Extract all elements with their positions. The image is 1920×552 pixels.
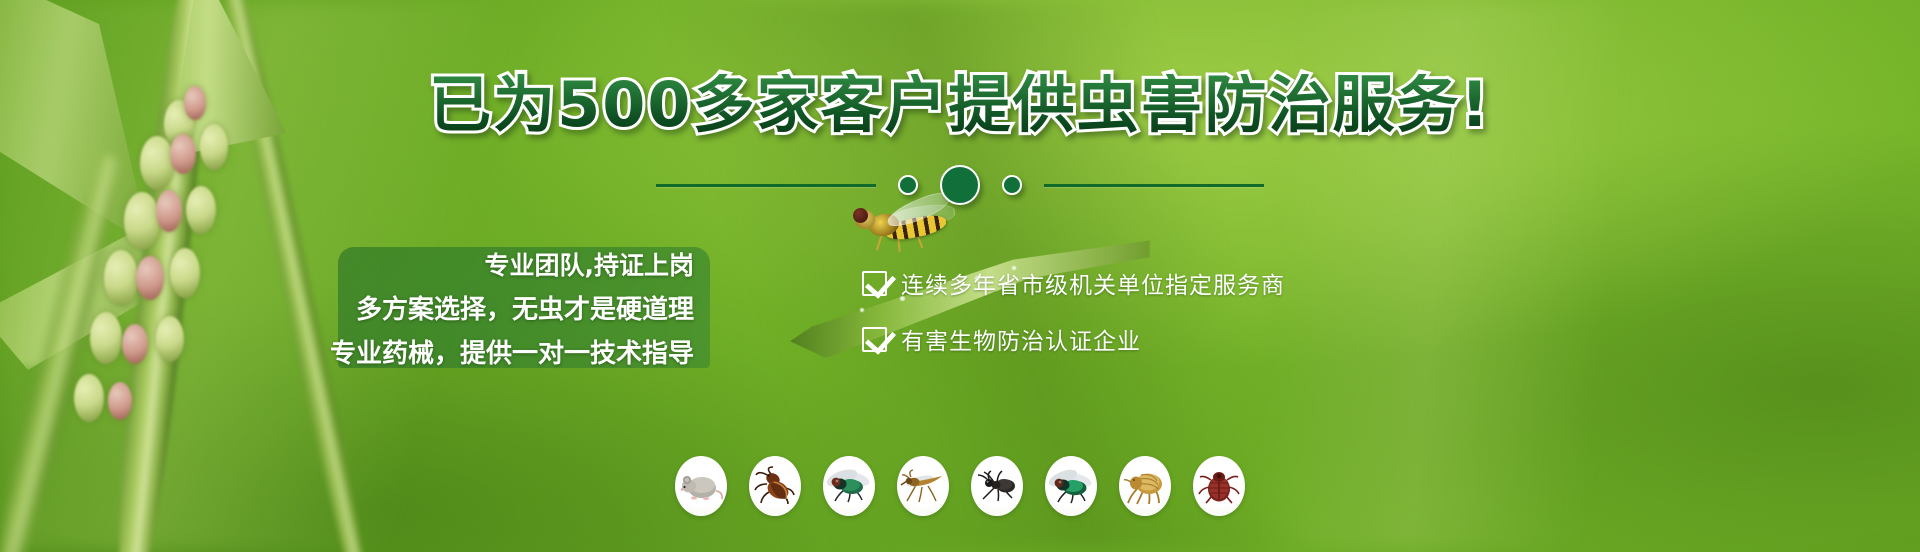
checkbox-checked-icon (862, 327, 887, 352)
checklist-item: 连续多年省市级机关单位指定服务商 (862, 266, 1502, 300)
bedbug-icon[interactable] (1193, 456, 1245, 516)
checklist-item-label: 连续多年省市级机关单位指定服务商 (901, 266, 1285, 300)
ant-icon[interactable] (971, 456, 1023, 516)
decorative-divider (0, 162, 1920, 208)
divider-line-right (1044, 184, 1264, 187)
mouse-icon[interactable] (675, 456, 727, 516)
mosquito-icon[interactable] (897, 456, 949, 516)
checklist-item-label: 有害生物防治认证企业 (901, 322, 1141, 356)
selling-point-3: 专业药械，提供一对一技术指导 (330, 333, 694, 370)
page-title: 已为500多家客户提供虫害防治服务! (0, 74, 1920, 136)
flea-icon[interactable] (1119, 456, 1171, 516)
divider-dot-small-left (898, 175, 918, 195)
divider-dot-large (940, 165, 980, 205)
credentials-checklist: 连续多年省市级机关单位指定服务商 有害生物防治认证企业 (862, 266, 1502, 356)
greenbottle-fly-icon[interactable] (1045, 456, 1097, 516)
selling-point-2: 多方案选择，无虫才是硬道理 (356, 289, 694, 326)
selling-point-1: 专业团队,持证上岗 (485, 246, 695, 282)
housefly-icon[interactable] (823, 456, 875, 516)
divider-dot-small-right (1002, 175, 1022, 195)
pest-type-strip (0, 436, 1920, 536)
checkbox-checked-icon (862, 271, 887, 296)
divider-line-left (656, 184, 876, 187)
checklist-item: 有害生物防治认证企业 (862, 322, 1502, 356)
pest-control-banner: 已为500多家客户提供虫害防治服务! 已为500多家客户提供虫害防治服务! 专业… (0, 0, 1920, 552)
cockroach-icon[interactable] (749, 456, 801, 516)
selling-points-text: 专业团队,持证上岗 多方案选择，无虫才是硬道理 专业药械，提供一对一技术指导 (338, 236, 710, 380)
